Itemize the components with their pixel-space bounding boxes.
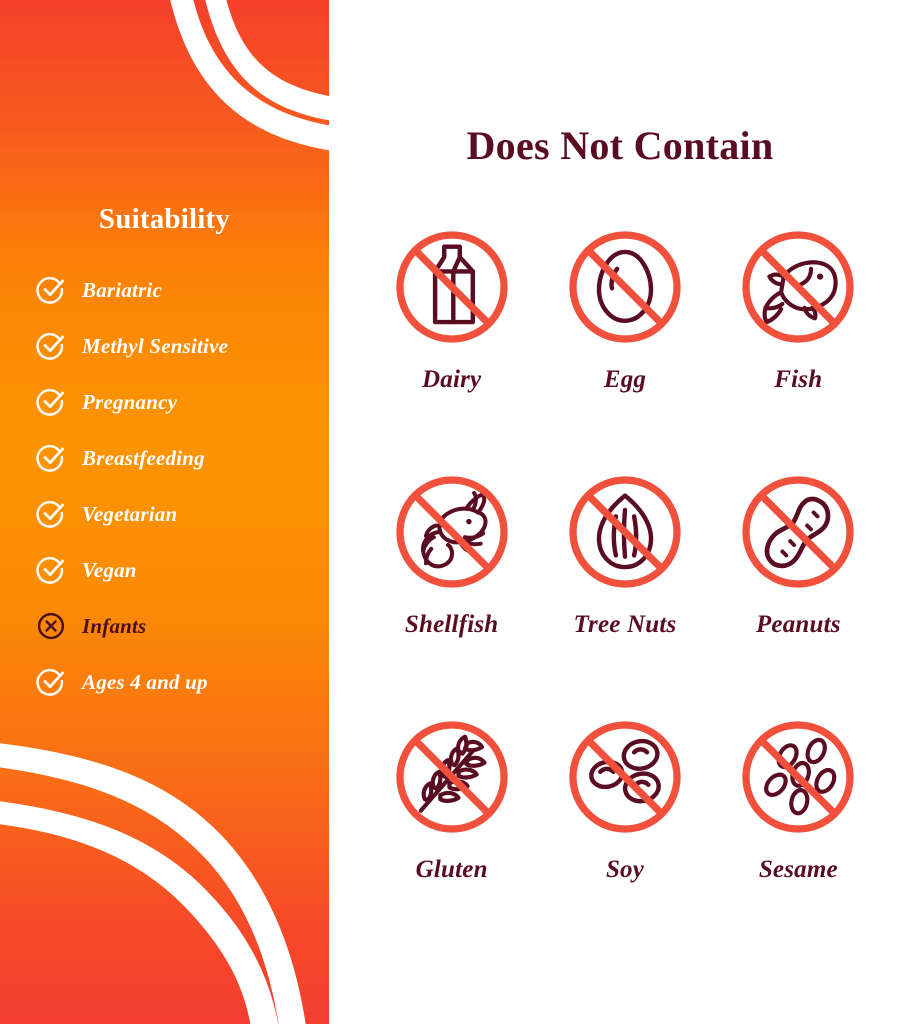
does-not-contain-panel: Does Not Contain Dairy [329, 0, 911, 1024]
suitability-item-label: Breastfeeding [82, 446, 205, 471]
allergen-label: Tree Nuts [574, 611, 677, 639]
suitability-item-label: Methyl Sensitive [82, 334, 228, 359]
suitability-item-ages-4-and-up: Ages 4 and up [36, 654, 329, 710]
suitability-item-label: Pregnancy [82, 390, 177, 415]
allergen-label: Shellfish [405, 611, 499, 639]
does-not-contain-heading: Does Not Contain [329, 122, 911, 169]
prohibition-sign-icon [400, 480, 504, 584]
prohibition-sign-icon [573, 725, 677, 829]
allergen-cell-sesame: Sesame [712, 712, 885, 957]
check-circle-icon [36, 275, 66, 305]
allergen-label: Peanuts [756, 611, 841, 639]
allergen-cell-soy: Soy [538, 712, 711, 957]
allergen-cell-egg: Egg [538, 222, 711, 467]
prohibition-sign-icon [400, 725, 504, 829]
check-circle-icon [36, 331, 66, 361]
suitability-panel: Suitability Bariatric Methyl Sensitive [0, 0, 329, 1024]
suitability-list: Bariatric Methyl Sensitive Pregnancy [36, 262, 329, 710]
suitability-item-label: Vegetarian [82, 502, 177, 527]
suitability-section: Suitability Bariatric Methyl Sensitive [0, 0, 329, 1024]
suitability-item-methyl-sensitive: Methyl Sensitive [36, 318, 329, 374]
allergen-grid: Dairy Egg [365, 222, 885, 957]
prohibition-sign-icon [746, 480, 850, 584]
shrimp-icon [387, 467, 517, 597]
allergen-cell-tree-nuts: Tree Nuts [538, 467, 711, 712]
egg-icon [560, 222, 690, 352]
allergen-label: Sesame [759, 856, 838, 884]
check-circle-icon [36, 499, 66, 529]
suitability-item-bariatric: Bariatric [36, 262, 329, 318]
suitability-item-label: Bariatric [82, 278, 162, 303]
allergen-label: Egg [604, 366, 646, 394]
suitability-item-breastfeeding: Breastfeeding [36, 430, 329, 486]
suitability-item-label: Infants [82, 614, 146, 639]
peanut-icon [733, 467, 863, 597]
x-circle-icon [36, 611, 66, 641]
shrimp-eye-icon [466, 519, 471, 524]
suitability-heading: Suitability [0, 203, 329, 236]
allergen-label: Dairy [422, 366, 481, 394]
suitability-item-pregnancy: Pregnancy [36, 374, 329, 430]
suitability-item-label: Vegan [82, 558, 137, 583]
suitability-item-infants: Infants [36, 598, 329, 654]
allergen-cell-dairy: Dairy [365, 222, 538, 467]
suitability-item-vegan: Vegan [36, 542, 329, 598]
allergen-label: Soy [606, 856, 644, 884]
sesame-seeds-icon [733, 712, 863, 842]
allergen-label: Fish [774, 366, 822, 394]
check-circle-icon [36, 555, 66, 585]
almond-icon [560, 467, 690, 597]
allergen-cell-fish: Fish [712, 222, 885, 467]
fish-icon [733, 222, 863, 352]
check-circle-icon [36, 667, 66, 697]
allergen-cell-peanuts: Peanuts [712, 467, 885, 712]
allergen-label: Gluten [416, 856, 488, 884]
fish-eye-icon [817, 273, 823, 279]
suitability-item-vegetarian: Vegetarian [36, 486, 329, 542]
suitability-item-label: Ages 4 and up [82, 670, 208, 695]
check-circle-icon [36, 443, 66, 473]
soybean-icon [560, 712, 690, 842]
allergen-cell-gluten: Gluten [365, 712, 538, 957]
milk-carton-icon [387, 222, 517, 352]
nutrition-label-infographic: Suitability Bariatric Methyl Sensitive [0, 0, 911, 1024]
check-circle-icon [36, 387, 66, 417]
wheat-icon [387, 712, 517, 842]
allergen-cell-shellfish: Shellfish [365, 467, 538, 712]
